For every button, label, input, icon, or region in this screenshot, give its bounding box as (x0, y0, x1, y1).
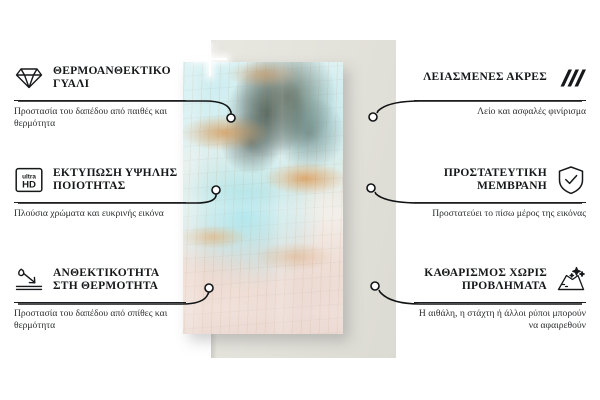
feature-title: ΛΕΙΑΣΜΕΝΕΣ ΑΚΡΕΣ (414, 71, 547, 85)
sparkle-surface-icon (556, 265, 586, 295)
feature-description: Πλούσια χρώματα και ευκρινής εικόνα (14, 208, 186, 220)
feature-description: Λείο και ασφαλές φινίρισμα (414, 106, 586, 118)
diagonal-stripes-icon (556, 63, 586, 93)
feature-description: Προστασία του δαπέδου από παιθές και θερ… (14, 106, 186, 130)
feature-title: ΠΡΟΣΤΑΤΕΥΤΙΚΗ ΜΕΜΒΡΑΝΗ (414, 167, 547, 194)
feature-header: ΛΕΙΑΣΜΕΝΕΣ ΑΚΡΕΣ (414, 62, 586, 94)
feature-easy-cleaning[interactable]: ΚΑΘΑΡΙΣΜΟΣ ΧΩΡΙΣ ΠΡΟΒΛΗΜΑΤΑ Η αιθάλη, η … (414, 264, 586, 332)
feature-divider (14, 302, 186, 303)
glass-vertical-reflection (183, 62, 343, 334)
feature-description: Προστασία του δαπέδου από σπίθες και θερ… (14, 308, 186, 332)
feature-polished-edges[interactable]: ΛΕΙΑΣΜΕΝΕΣ ΑΚΡΕΣ Λείο και ασφαλές φινίρι… (414, 62, 586, 118)
product-composition (175, 40, 400, 360)
infographic-page: ΘΕΡΜΟΑΝΘΕΚΤΙΚΟ ΓΥΑΛΙ Προστασία του δαπέδ… (0, 0, 600, 400)
glass-print-panel (183, 62, 343, 334)
feature-divider (414, 202, 586, 203)
feature-header: ΘΕΡΜΟΑΝΘΕΚΤΙΚΟ ΓΥΑΛΙ (14, 62, 186, 94)
feature-title: ΑΝΘΕΚΤΙΚΟΤΗΤΑ ΣΤΗ ΘΕΡΜΟΤΗΤΑ (53, 267, 186, 294)
ultra-hd-badge-icon: ultra HD (14, 165, 44, 195)
feature-heat-resistance[interactable]: ΑΝΘΕΚΤΙΚΟΤΗΤΑ ΣΤΗ ΘΕΡΜΟΤΗΤΑ Προστασία το… (14, 264, 186, 332)
feature-title: ΚΑΘΑΡΙΣΜΟΣ ΧΩΡΙΣ ΠΡΟΒΛΗΜΑΤΑ (414, 267, 547, 294)
feature-header: ΠΡΟΣΤΑΤΕΥΤΙΚΗ ΜΕΜΒΡΑΝΗ (414, 164, 586, 196)
feature-hd-print[interactable]: ultra HD ΕΚΤΥΠΩΣΗ ΥΨΗΛΗΣ ΠΟΙΟΤΗΤΑΣ Πλούσ… (14, 164, 186, 220)
feature-title: ΘΕΡΜΟΑΝΘΕΚΤΙΚΟ ΓΥΑΛΙ (53, 65, 186, 92)
svg-text:HD: HD (22, 180, 36, 191)
feature-title: ΕΚΤΥΠΩΣΗ ΥΨΗΛΗΣ ΠΟΙΟΤΗΤΑΣ (53, 167, 186, 194)
feature-divider (14, 202, 186, 203)
shield-check-icon (556, 165, 586, 195)
feature-divider (14, 100, 186, 101)
feature-heatproof-glass[interactable]: ΘΕΡΜΟΑΝΘΕΚΤΙΚΟ ΓΥΑΛΙ Προστασία του δαπέδ… (14, 62, 186, 130)
feature-header: ΑΝΘΕΚΤΙΚΟΤΗΤΑ ΣΤΗ ΘΕΡΜΟΤΗΤΑ (14, 264, 186, 296)
feature-header: ΚΑΘΑΡΙΣΜΟΣ ΧΩΡΙΣ ΠΡΟΒΛΗΜΑΤΑ (414, 264, 586, 296)
flame-resistance-icon (14, 265, 44, 295)
feature-divider (414, 100, 586, 101)
diamond-icon (14, 63, 44, 93)
feature-description: Προστατεύει το πίσω μέρος της εικόνας (414, 208, 586, 220)
feature-protective-film[interactable]: ΠΡΟΣΤΑΤΕΥΤΙΚΗ ΜΕΜΒΡΑΝΗ Προστατεύει το πί… (414, 164, 586, 220)
feature-header: ultra HD ΕΚΤΥΠΩΣΗ ΥΨΗΛΗΣ ΠΟΙΟΤΗΤΑΣ (14, 164, 186, 196)
feature-divider (414, 302, 586, 303)
feature-description: Η αιθάλη, η στάχτη ή άλλοι ρύποι μπορούν… (414, 308, 586, 332)
